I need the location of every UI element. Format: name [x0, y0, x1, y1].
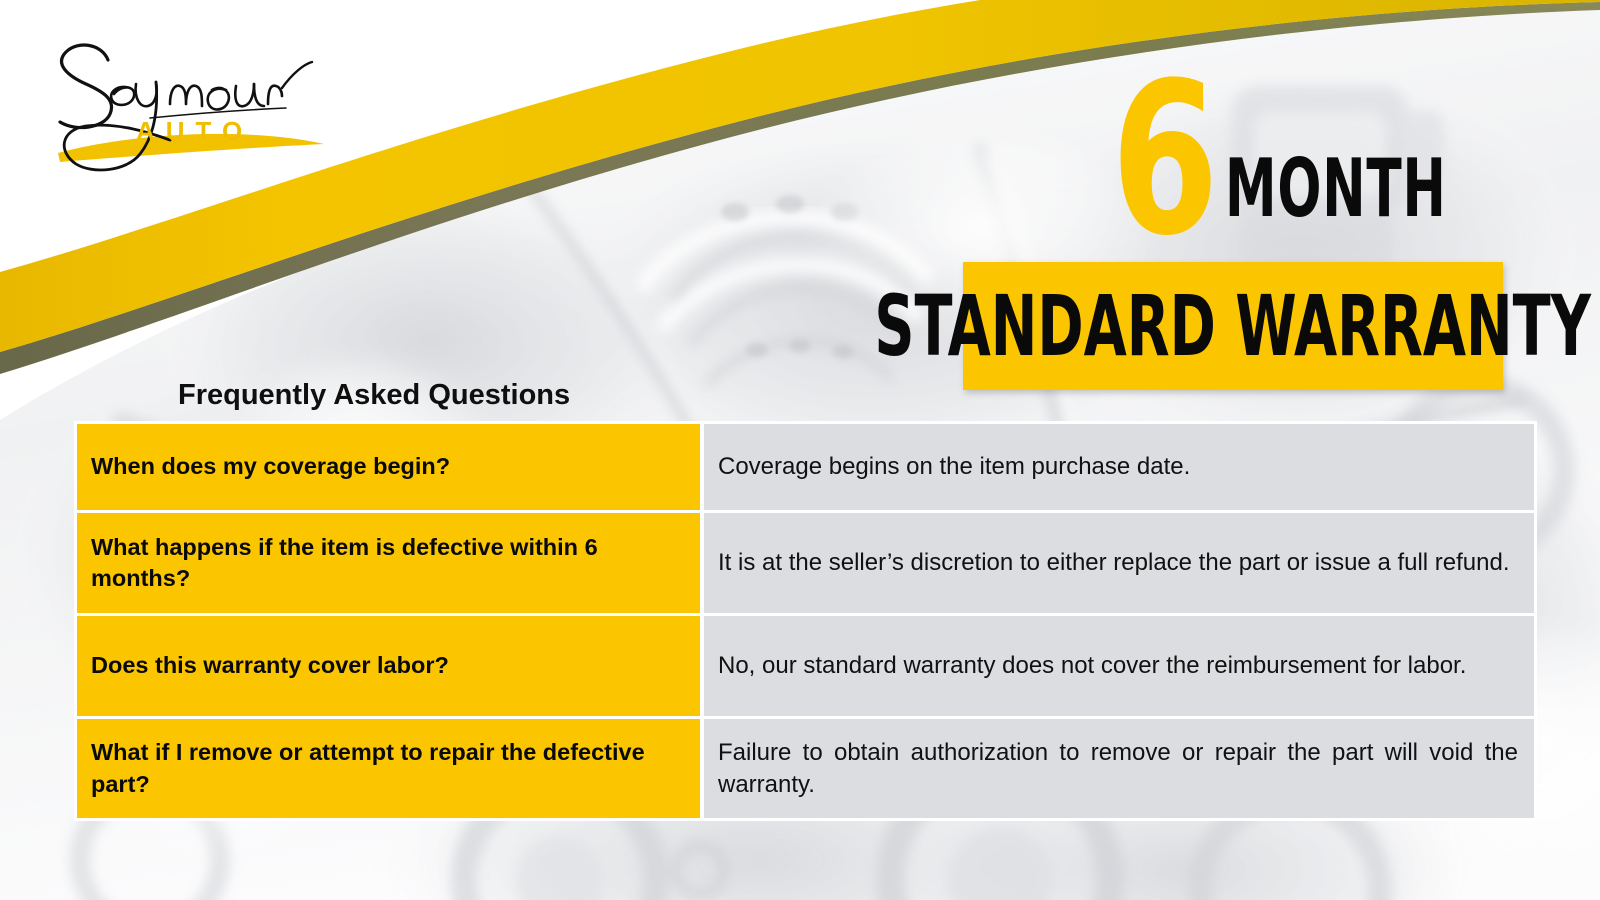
standard-warranty-banner-title: STANDARD WARRANTY — [875, 284, 1592, 368]
faq-question-cell: What happens if the item is defective wi… — [77, 513, 700, 613]
warranty-term-unit: MONTH — [1225, 148, 1447, 242]
faq-question-cell: Does this warranty cover labor? — [77, 616, 700, 716]
table-row: What if I remove or attempt to repair th… — [77, 719, 1534, 818]
table-row: What happens if the item is defective wi… — [77, 513, 1534, 613]
faq-answer-cell: Failure to obtain authorization to remov… — [704, 719, 1534, 818]
standard-warranty-banner: STANDARD WARRANTY — [963, 262, 1503, 390]
faq-question-text: What happens if the item is defective wi… — [91, 532, 684, 595]
faq-answer-cell: Coverage begins on the item purchase dat… — [704, 424, 1534, 510]
faq-question-text: When does my coverage begin? — [91, 451, 450, 482]
faq-question-cell: When does my coverage begin? — [77, 424, 700, 510]
table-row: Does this warranty cover labor? No, our … — [77, 616, 1534, 716]
warranty-term: 6 MONTH — [1111, 78, 1502, 242]
faq-answer-text: It is at the seller’s discretion to eith… — [718, 547, 1518, 578]
faq-heading: Frequently Asked Questions — [178, 379, 570, 412]
faq-question-cell: What if I remove or attempt to repair th… — [77, 719, 700, 818]
faq-table: When does my coverage begin? Coverage be… — [74, 421, 1537, 821]
warranty-slide: AUTO 6 MONTH STANDARD WARRANTY Frequentl… — [0, 0, 1600, 900]
faq-answer-text: No, our standard warranty does not cover… — [718, 650, 1518, 681]
seymour-auto-logo: AUTO — [30, 22, 330, 182]
faq-answer-cell: No, our standard warranty does not cover… — [704, 616, 1534, 716]
svg-text:AUTO: AUTO — [136, 116, 253, 146]
faq-answer-text: Failure to obtain authorization to remov… — [718, 737, 1518, 799]
faq-answer-text: Coverage begins on the item purchase dat… — [718, 451, 1518, 482]
faq-question-text: What if I remove or attempt to repair th… — [91, 737, 684, 800]
table-row: When does my coverage begin? Coverage be… — [77, 424, 1534, 510]
faq-answer-cell: It is at the seller’s discretion to eith… — [704, 513, 1534, 613]
warranty-term-number: 6 — [1111, 78, 1216, 242]
faq-question-text: Does this warranty cover labor? — [91, 650, 449, 681]
